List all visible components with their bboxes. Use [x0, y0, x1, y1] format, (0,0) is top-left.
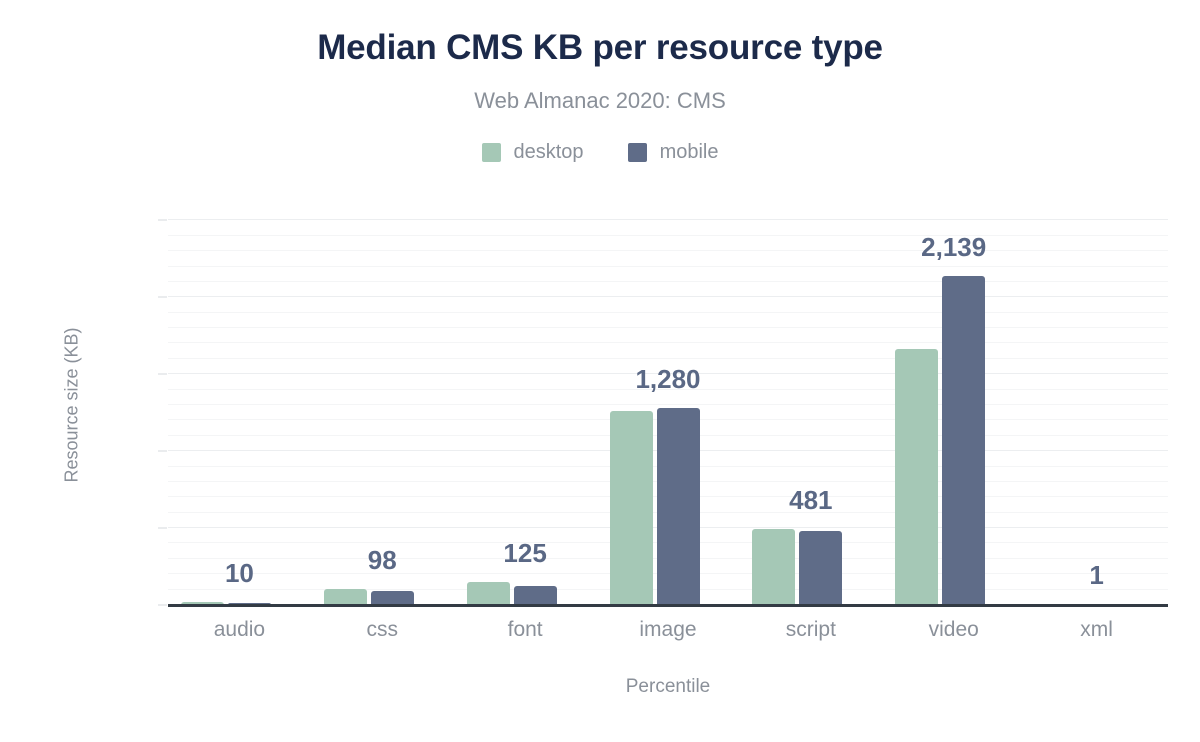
plot-area: 05001,0001,5002,0002,500 Resource size (… — [168, 205, 1168, 605]
y-tick-mark — [158, 605, 167, 606]
bar-video-desktop[interactable] — [895, 349, 938, 605]
x-tick-label-css: css — [311, 618, 454, 642]
bar-script-mobile[interactable] — [799, 531, 842, 605]
chart-subtitle: Web Almanac 2020: CMS — [0, 88, 1200, 114]
bar-value-label-xml: 1 — [1025, 560, 1168, 591]
bar-font-mobile[interactable] — [514, 586, 557, 605]
chart-legend: desktopmobile — [0, 141, 1200, 164]
bar-value-label-font: 125 — [454, 538, 597, 569]
bar-value-label-audio: 10 — [168, 558, 311, 589]
bar-value-label-video: 2,139 — [882, 232, 1025, 263]
bar-group-font: 125 — [454, 205, 597, 605]
bar-css-desktop[interactable] — [324, 589, 367, 605]
y-tick-mark — [158, 451, 167, 452]
legend-item-desktop[interactable]: desktop — [482, 141, 584, 164]
y-axis-title: Resource size (KB) — [62, 327, 83, 482]
bar-script-desktop[interactable] — [752, 529, 795, 605]
x-axis-line — [168, 604, 1168, 607]
bar-css-mobile[interactable] — [371, 591, 414, 605]
legend-label: mobile — [660, 141, 719, 164]
x-tick-label-script: script — [739, 618, 882, 642]
y-tick-mark — [158, 374, 167, 375]
legend-label: desktop — [514, 141, 584, 164]
bar-video-mobile[interactable] — [942, 276, 985, 605]
chart-title: Median CMS KB per resource type — [0, 28, 1200, 68]
bar-group-image: 1,280 — [597, 205, 740, 605]
bar-group-script: 481 — [739, 205, 882, 605]
y-tick-mark — [158, 528, 167, 529]
bar-group-css: 98 — [311, 205, 454, 605]
bar-group-video: 2,139 — [882, 205, 1025, 605]
x-tick-label-xml: xml — [1025, 618, 1168, 642]
bar-group-audio: 10 — [168, 205, 311, 605]
legend-swatch-mobile — [628, 143, 647, 162]
bar-image-mobile[interactable] — [657, 408, 700, 605]
bar-font-desktop[interactable] — [467, 582, 510, 605]
bar-image-desktop[interactable] — [610, 411, 653, 605]
legend-item-mobile[interactable]: mobile — [628, 141, 719, 164]
x-axis-title: Percentile — [168, 676, 1168, 698]
bar-value-label-image: 1,280 — [597, 364, 740, 395]
x-tick-label-image: image — [597, 618, 740, 642]
bar-value-label-css: 98 — [311, 545, 454, 576]
bar-group-xml: 1 — [1025, 205, 1168, 605]
y-tick-mark — [158, 220, 167, 221]
bar-value-label-script: 481 — [739, 485, 882, 516]
x-tick-label-video: video — [882, 618, 1025, 642]
legend-swatch-desktop — [482, 143, 501, 162]
x-tick-label-audio: audio — [168, 618, 311, 642]
x-tick-label-font: font — [454, 618, 597, 642]
y-tick-mark — [158, 297, 167, 298]
chart-container: Median CMS KB per resource type Web Alma… — [0, 0, 1200, 742]
